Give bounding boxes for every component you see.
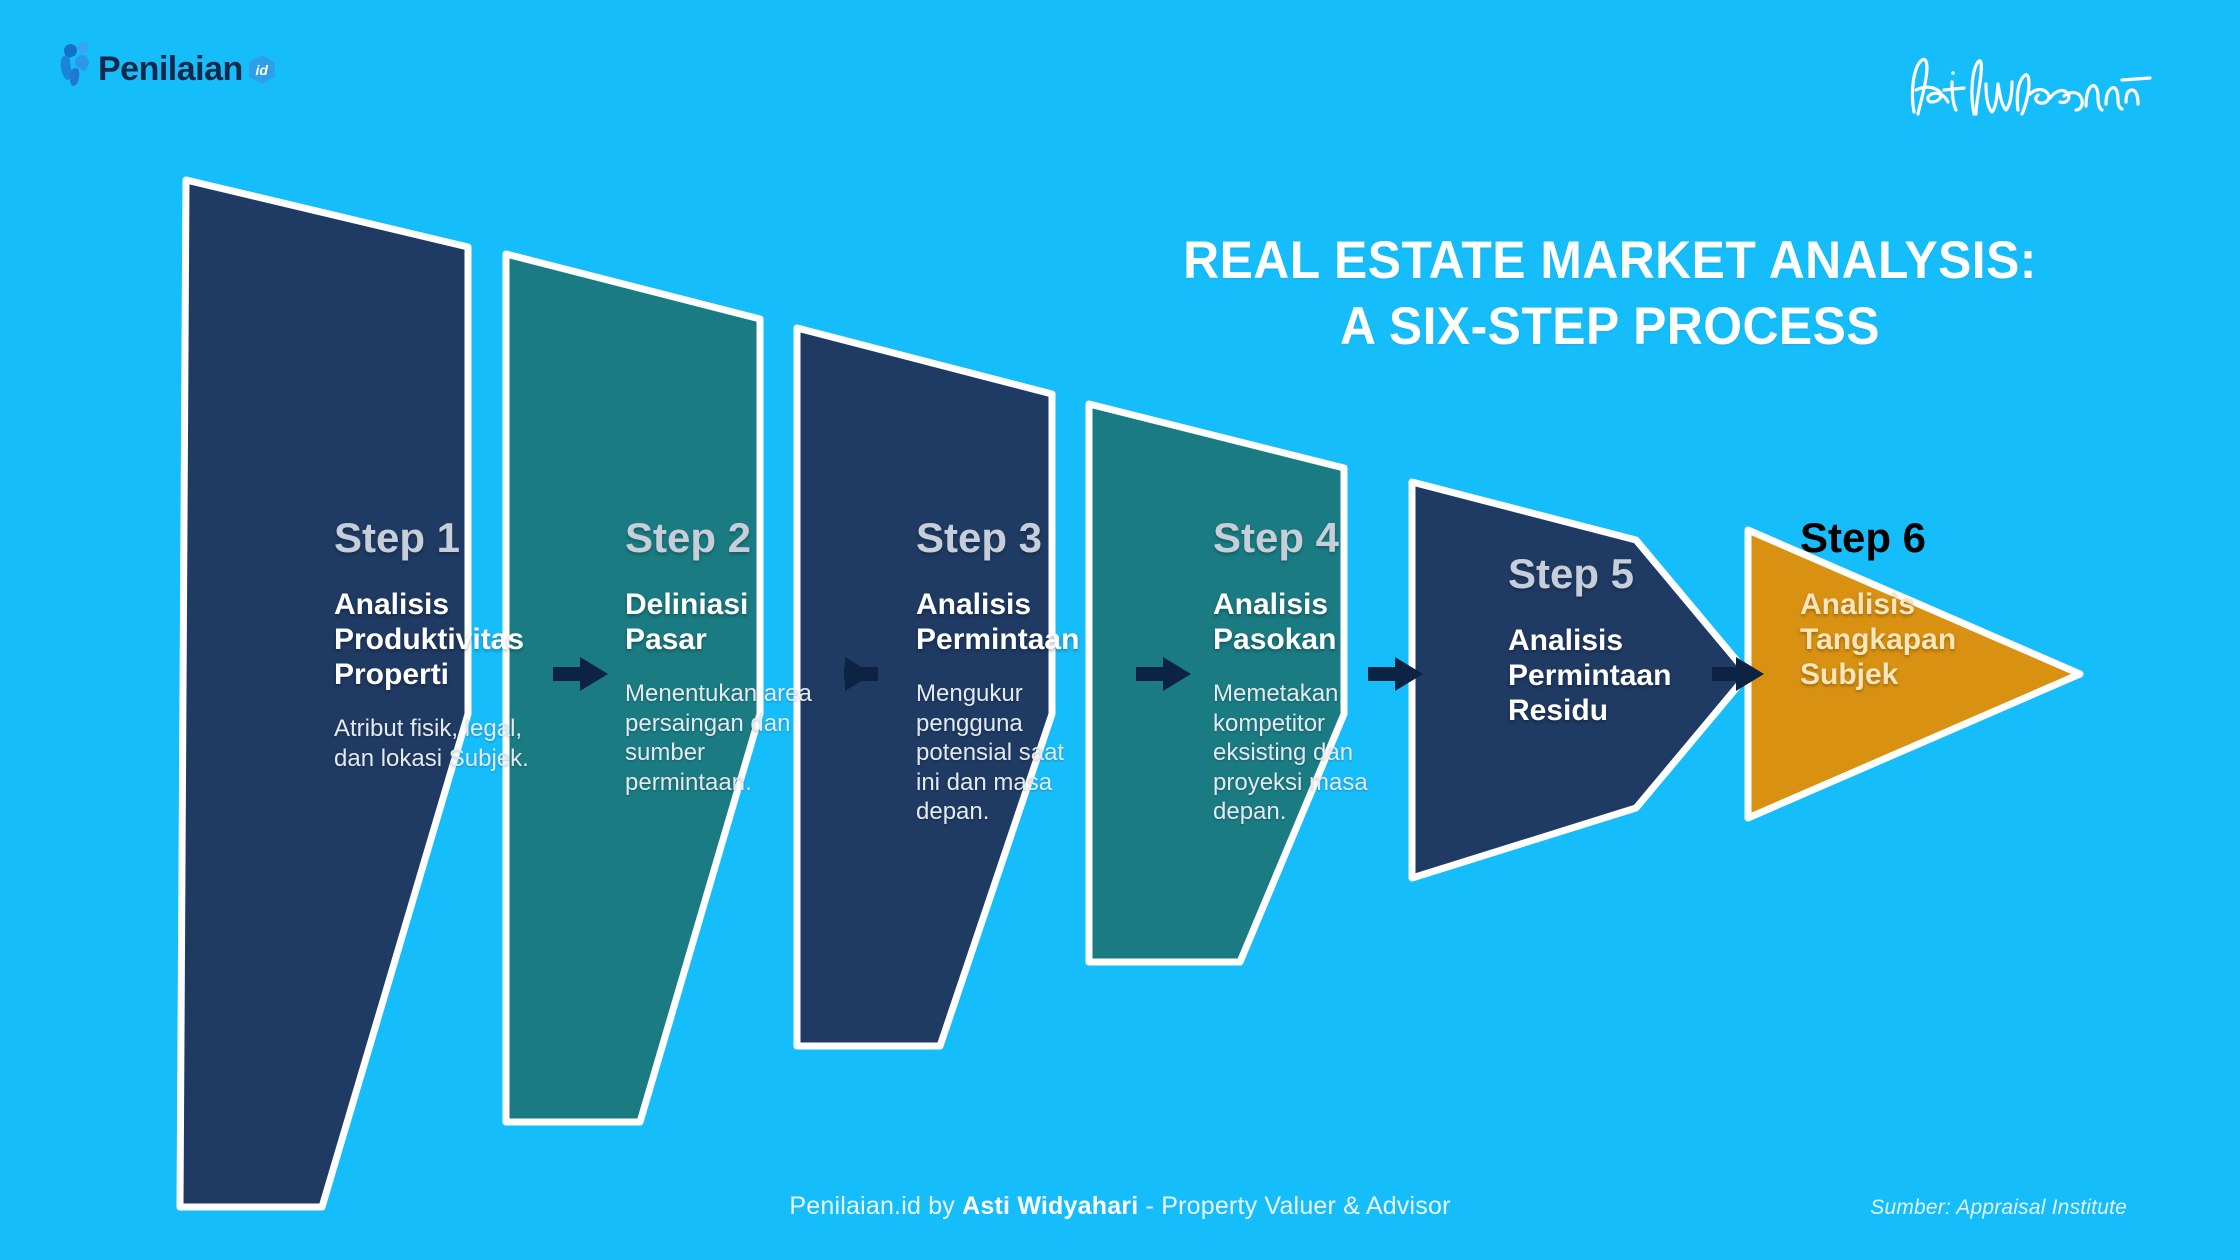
source-attribution: Sumber: Appraisal Institute (1870, 1196, 2127, 1220)
step-4-desc: Memetakan kompetitor eksisting dan proye… (1213, 679, 1395, 827)
step-3-content: Step 3 Analisis Permintaan Mengukur peng… (916, 517, 1094, 827)
footer-author: Asti Widyahari (962, 1192, 1138, 1220)
step-1-content: Step 1 Analisis Produktivitas Properti A… (334, 517, 546, 773)
step-5-content: Step 5 Analisis Permintaan Residu (1508, 553, 1722, 728)
step-3-title: Analisis Permintaan (916, 587, 1094, 657)
step-6-label: Step 6 (1800, 517, 1990, 559)
step-2-desc: Menentukan area persaingan dan sumber pe… (625, 679, 813, 797)
footer-suffix: - Property Valuer & Advisor (1138, 1192, 1450, 1220)
footer-prefix: Penilaian.id by (789, 1192, 962, 1220)
step-2-content: Step 2 Deliniasi Pasar Menentukan area p… (625, 517, 813, 797)
step-1-desc: Atribut fisik, legal, dan lokasi Subjek. (334, 714, 546, 773)
step-5-label: Step 5 (1508, 553, 1722, 595)
step-4-label: Step 4 (1213, 517, 1395, 559)
step-3-desc: Mengukur pengguna potensial saat ini dan… (916, 679, 1094, 827)
step-5-title: Analisis Permintaan Residu (1508, 623, 1722, 728)
step-4-content: Step 4 Analisis Pasokan Memetakan kompet… (1213, 517, 1395, 827)
step-1-label: Step 1 (334, 517, 546, 559)
step-2-title: Deliniasi Pasar (625, 587, 813, 657)
step-2-label: Step 2 (625, 517, 813, 559)
step-3-label: Step 3 (916, 517, 1094, 559)
step-4-title: Analisis Pasokan (1213, 587, 1395, 657)
step-1-title: Analisis Produktivitas Properti (334, 587, 546, 692)
slide-canvas: Penilaian id (0, 0, 2240, 1260)
step-6-title: Analisis Tangkapan Subjek (1800, 587, 1990, 692)
step-6-content: Step 6 Analisis Tangkapan Subjek (1800, 517, 1990, 692)
